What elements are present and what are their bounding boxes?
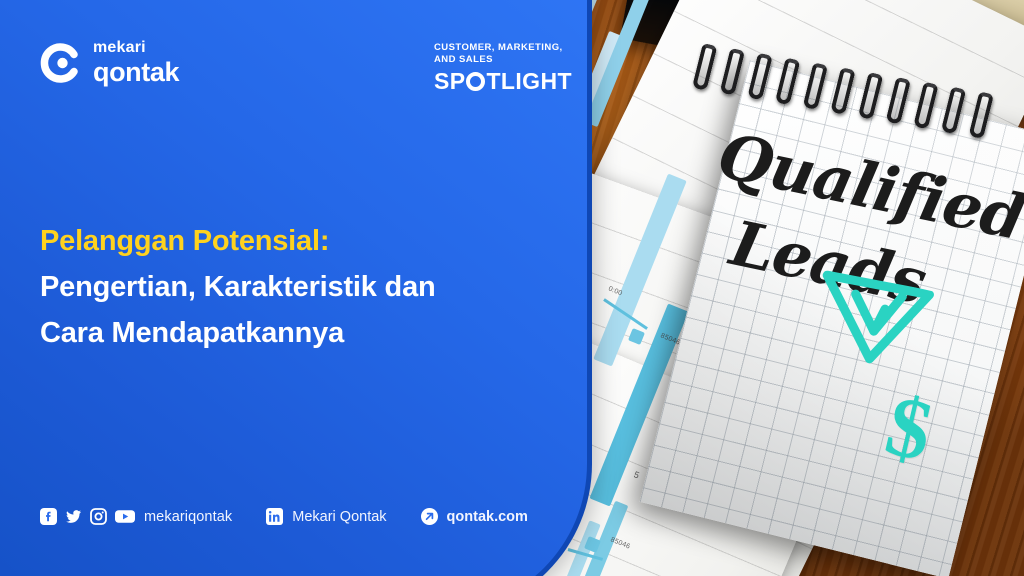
- page-title: Pelanggan Potensial: Pengertian, Karakte…: [40, 218, 560, 356]
- linkedin-name-label: Mekari Qontak: [292, 509, 386, 525]
- social-handle-label: mekariqontak: [144, 509, 232, 525]
- headline-line-1: Pelanggan Potensial:: [40, 218, 560, 264]
- mekari-qontak-logo[interactable]: mekari qontak: [40, 40, 179, 86]
- spotlight-wordmark: SP TLIGHT: [434, 68, 572, 95]
- logo-wordmark: mekari qontak: [93, 40, 179, 86]
- website-group[interactable]: qontak.com: [421, 508, 528, 525]
- website-label: qontak.com: [447, 509, 528, 525]
- spotlight-eyebrow-line2: AND SALES: [434, 54, 572, 66]
- mekari-qontak-c-mark-icon: [40, 43, 80, 83]
- social-icon-group: [40, 508, 132, 525]
- instagram-icon[interactable]: [90, 508, 107, 525]
- twitter-icon[interactable]: [65, 508, 82, 525]
- spotlight-o-ring-icon: [466, 72, 485, 91]
- spotlight-eyebrow-line1: CUSTOMER, MARKETING,: [434, 42, 572, 54]
- slide-canvas: 0:00 85046 5 85046 Qualified Leads: [0, 0, 1024, 576]
- headline-line-2: Pengertian, Karakteristik dan: [40, 264, 560, 310]
- logo-line-mekari: mekari: [93, 40, 179, 56]
- spotlight-wordmark-part1: SP: [434, 68, 465, 95]
- spotlight-wordmark-part2: TLIGHT: [486, 68, 571, 95]
- arrow-up-right-icon[interactable]: [421, 508, 438, 525]
- facebook-icon[interactable]: [40, 508, 57, 525]
- youtube-icon[interactable]: [115, 508, 132, 525]
- linkedin-group[interactable]: Mekari Qontak: [266, 508, 386, 525]
- logo-line-qontak: qontak: [93, 59, 179, 86]
- linkedin-icon[interactable]: [266, 508, 283, 525]
- headline-line-3: Cara Mendapatkannya: [40, 310, 560, 356]
- spotlight-lockup: CUSTOMER, MARKETING, AND SALES SP TLIGHT: [434, 42, 572, 95]
- footer-social-bar: mekariqontak Mekari Qontak qontak.com: [40, 508, 528, 525]
